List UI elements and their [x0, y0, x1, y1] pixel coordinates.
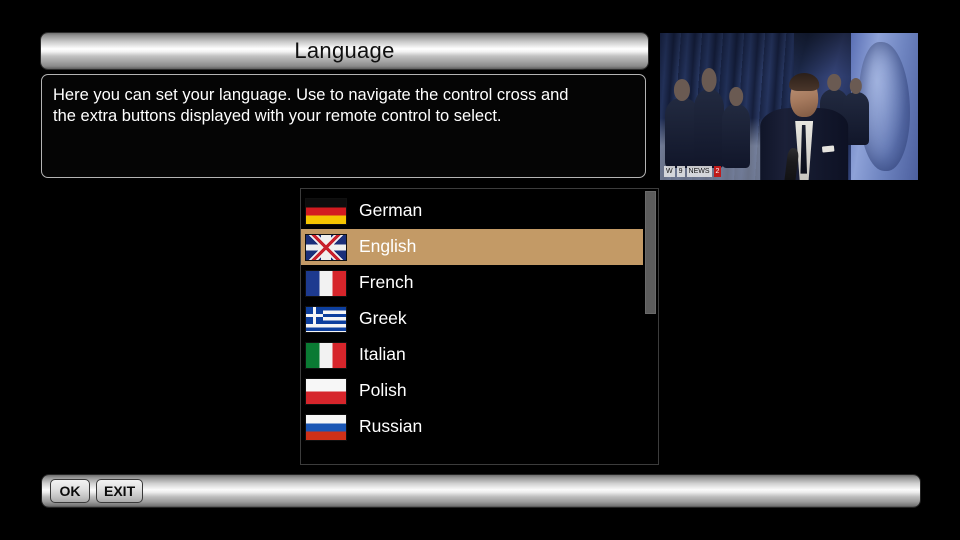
language-label: English [359, 238, 416, 256]
video-crowd-figure [722, 104, 750, 169]
language-label: Italian [359, 346, 406, 364]
video-crowd-figure [694, 89, 725, 168]
video-preview[interactable]: W 9 NEWS 2 [660, 33, 918, 180]
list-scrollbar-track[interactable] [645, 191, 656, 464]
video-presenter [760, 74, 848, 180]
flag-russia-icon [305, 414, 347, 441]
tv-settings-screen: Language Here you can set your language.… [0, 0, 960, 540]
flag-greece-icon [305, 306, 347, 333]
language-list-panel[interactable]: German English French Greek Italian Poli [300, 188, 659, 465]
flag-germany-icon [305, 198, 347, 225]
language-list-item-russian[interactable]: Russian [301, 409, 643, 445]
language-label: Russian [359, 418, 422, 436]
description-panel: Here you can set your language. Use to n… [41, 74, 646, 178]
language-list-item-italian[interactable]: Italian [301, 337, 643, 373]
flag-united-kingdom-icon [305, 234, 347, 261]
channel-logo-part: W [664, 166, 675, 177]
flag-poland-icon [305, 378, 347, 405]
language-label: Greek [359, 310, 407, 328]
presenter-head [790, 76, 818, 116]
page-title: Language [294, 38, 394, 64]
language-list-item-french[interactable]: French [301, 265, 643, 301]
language-list: German English French Greek Italian Poli [301, 193, 643, 445]
presenter-hair [789, 73, 819, 91]
language-list-item-polish[interactable]: Polish [301, 373, 643, 409]
bottom-softkey-bar: OK EXIT [42, 475, 920, 507]
language-list-item-greek[interactable]: Greek [301, 301, 643, 337]
page-title-bar: Language [41, 33, 648, 69]
exit-button[interactable]: EXIT [96, 479, 143, 503]
channel-logo-part: 2 [714, 166, 722, 177]
list-scrollbar-thumb[interactable] [645, 191, 656, 314]
ok-button[interactable]: OK [50, 479, 90, 503]
language-label: French [359, 274, 413, 292]
channel-logo-part: NEWS [687, 166, 712, 177]
language-list-item-english[interactable]: English [301, 229, 643, 265]
flag-italy-icon [305, 342, 347, 369]
language-list-item-german[interactable]: German [301, 193, 643, 229]
channel-logo: W 9 NEWS 2 [664, 165, 721, 177]
language-label: Polish [359, 382, 407, 400]
description-text: Here you can set your language. Use to n… [53, 85, 633, 127]
language-label: German [359, 202, 422, 220]
channel-logo-part: 9 [677, 166, 685, 177]
flag-france-icon [305, 270, 347, 297]
